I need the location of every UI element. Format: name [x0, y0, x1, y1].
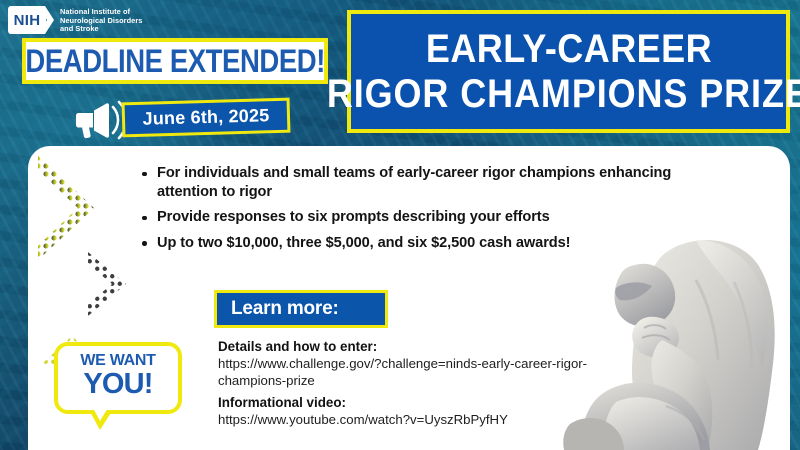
chevron-right-icon [38, 6, 54, 34]
nih-logo-mark: NIH [8, 6, 54, 34]
bubble-tail-inner [92, 406, 109, 421]
nih-logo-text: NIH [14, 12, 41, 29]
deadline-date-badge: June 6th, 2025 [122, 98, 291, 138]
video-heading: Informational video: [218, 394, 650, 411]
learn-more-badge[interactable]: Learn more: [214, 290, 388, 328]
halftone-chevron-small-icon [86, 250, 164, 322]
bullet-list: For individuals and small teams of early… [140, 164, 706, 259]
details-block: Details and how to enter: https://www.ch… [218, 338, 650, 428]
details-heading: Details and how to enter: [218, 338, 650, 355]
bubble-line-2: YOU! [54, 369, 182, 399]
content-card: For individuals and small teams of early… [28, 146, 790, 450]
title-line-2: RIGOR CHAMPIONS PRIZE [327, 72, 800, 117]
deadline-date-text: June 6th, 2025 [142, 105, 269, 130]
deadline-banner: DEADLINE EXTENDED! [22, 38, 328, 84]
learn-more-label: Learn more: [231, 298, 339, 320]
details-url-link[interactable]: https://www.challenge.gov/?challenge=nin… [218, 355, 650, 389]
nih-logo: NIH National Institute of Neurological D… [8, 6, 142, 34]
video-url-link[interactable]: https://www.youtube.com/watch?v=UyszRbPy… [218, 411, 650, 428]
bullet-item: For individuals and small teams of early… [140, 164, 706, 201]
deadline-headline: DEADLINE EXTENDED! [25, 45, 325, 77]
nih-logo-line-3: and Stroke [60, 25, 142, 34]
bullet-item: Up to two $10,000, three $5,000, and six… [140, 234, 706, 253]
we-want-you-bubble: WE WANT YOU! [54, 342, 182, 432]
bullet-item: Provide responses to six prompts describ… [140, 208, 706, 227]
title-line-1: EARLY-CAREER [425, 27, 711, 72]
title-banner: EARLY-CAREER RIGOR CHAMPIONS PRIZE [347, 10, 790, 133]
nih-logo-wordmark: National Institute of Neurological Disor… [60, 6, 142, 34]
